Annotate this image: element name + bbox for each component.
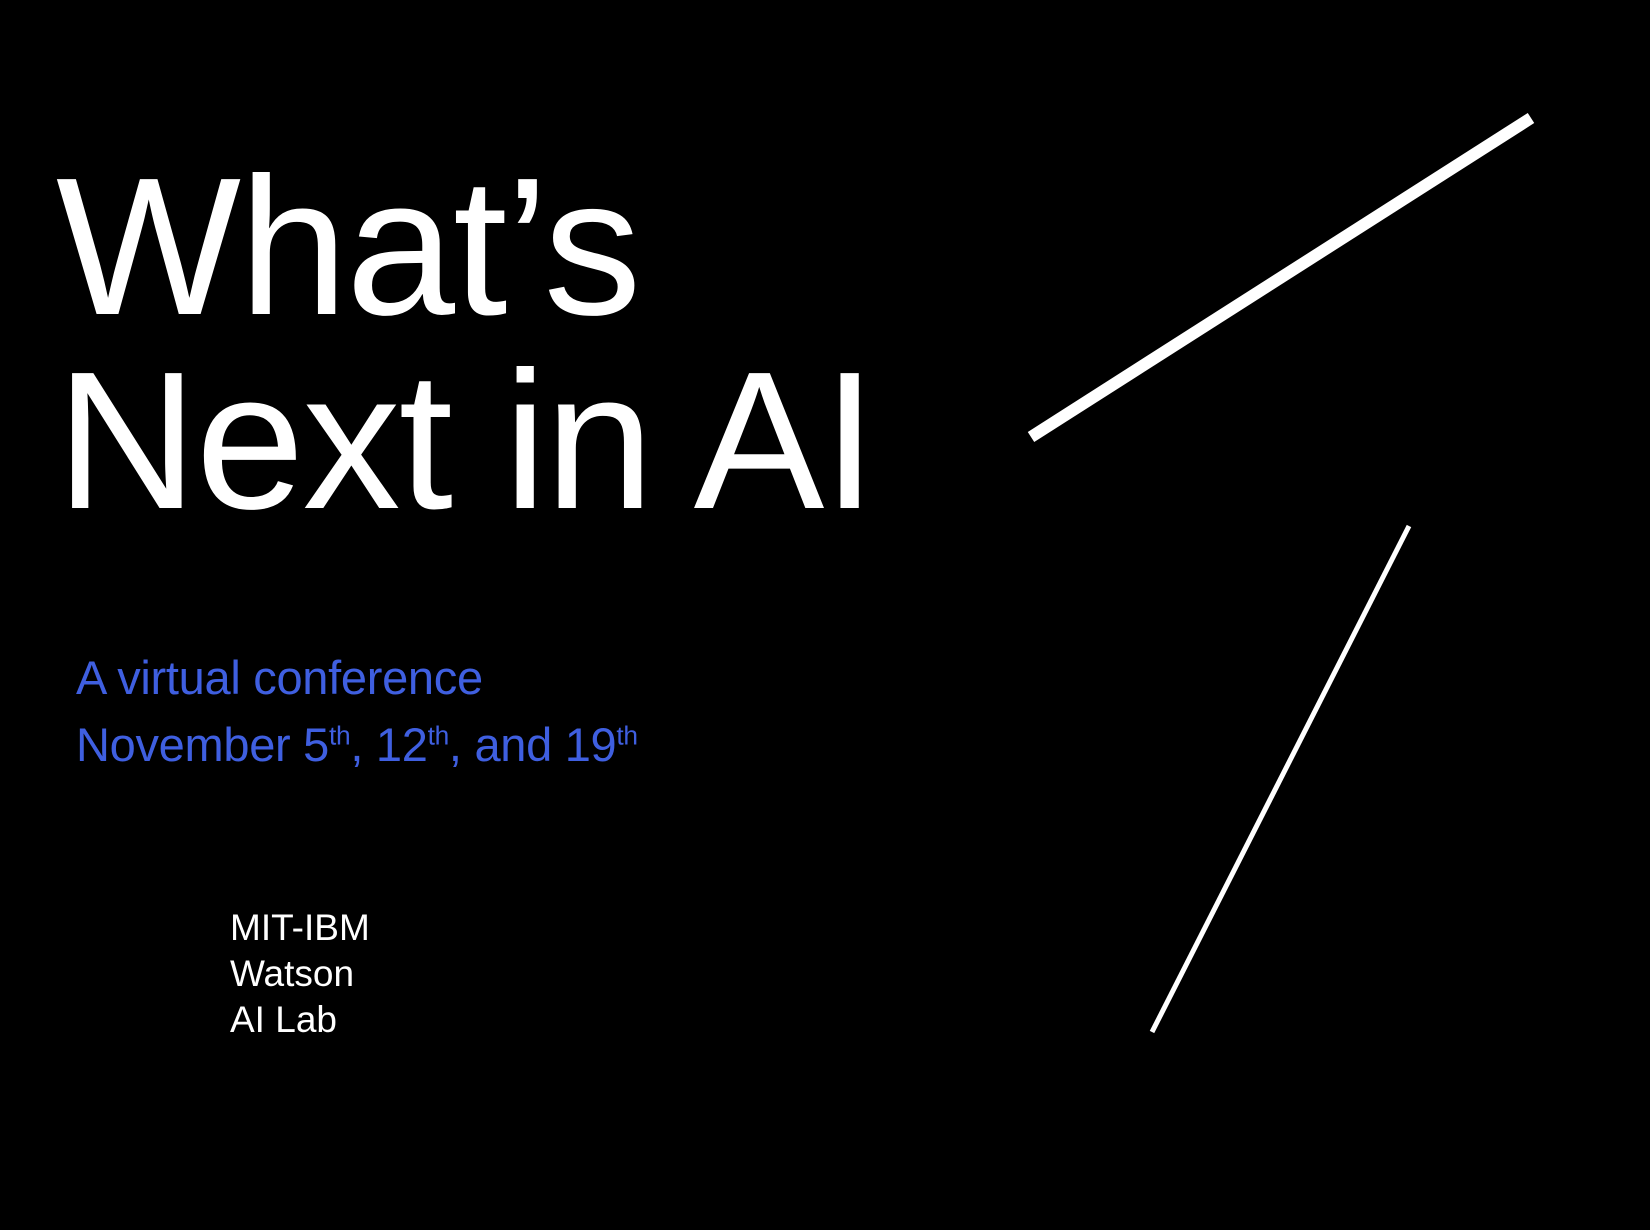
event-dates-label: November 5th, 12th, and 19th [76,712,638,779]
event-dates-mid-1: , 12 [350,718,427,771]
page-title: What’s Next in AI [56,150,1016,538]
logo-wordmark-line-1: MIT-IBM [230,905,370,951]
diagonal-accent-line-thick [1031,118,1531,437]
ordinal-suffix-3: th [616,720,637,750]
logo: MIT-IBM Watson AI Lab [55,845,370,1043]
logo-wordmark: MIT-IBM Watson AI Lab [230,905,370,1043]
event-dates-prefix: November 5 [76,718,329,771]
diagonal-accent-line-thin [1152,526,1409,1032]
ordinal-suffix-1: th [329,720,350,750]
presentation-slide: What’s Next in AI A virtual conference N… [0,0,1650,1230]
page-title-line-2: Next in AI [56,344,1016,538]
event-type-label: A virtual conference [76,645,638,712]
ordinal-suffix-2: th [428,720,449,750]
page-title-line-1: What’s [56,150,1016,344]
event-dates-mid-2: , and 19 [449,718,616,771]
logo-wordmark-line-2: Watson [230,951,370,997]
mit-ibm-watson-ai-lab-logo-mark [55,845,163,1035]
event-subtitle: A virtual conference November 5th, 12th,… [76,645,638,778]
logo-wordmark-line-3: AI Lab [230,997,370,1043]
